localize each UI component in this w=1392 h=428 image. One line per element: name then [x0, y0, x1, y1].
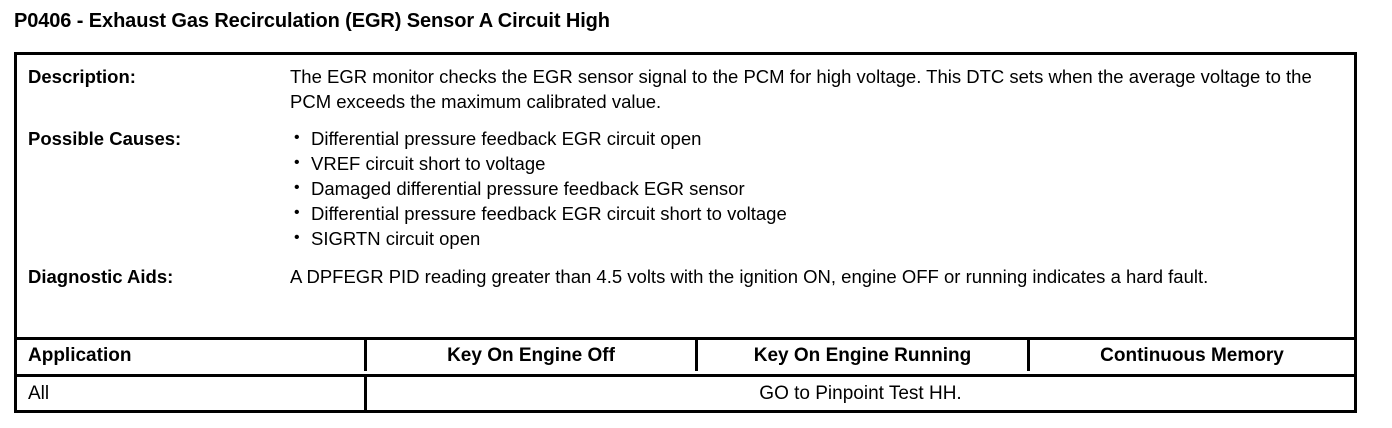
possible-causes-row: Possible Causes: Differential pressure f…	[17, 114, 1354, 251]
list-item: Differential pressure feedback EGR circu…	[290, 201, 1344, 226]
list-item: VREF circuit short to voltage	[290, 151, 1344, 176]
list-item: Differential pressure feedback EGR circu…	[290, 126, 1344, 151]
table-header-row: Application Key On Engine Off Key On Eng…	[17, 340, 1354, 377]
diagnostic-aids-row: Diagnostic Aids: A DPFEGR PID reading gr…	[17, 251, 1354, 289]
diagnostic-aids-content: A DPFEGR PID reading greater than 4.5 vo…	[290, 264, 1354, 289]
cell-test-result: GO to Pinpoint Test HH.	[364, 377, 1354, 410]
diagnostic-aids-label: Diagnostic Aids:	[17, 264, 290, 289]
table-row: All GO to Pinpoint Test HH.	[17, 377, 1354, 410]
cell-application: All	[17, 377, 364, 410]
dtc-document-page: P0406 - Exhaust Gas Recirculation (EGR) …	[0, 0, 1392, 428]
column-header-continuous-memory: Continuous Memory	[1027, 340, 1354, 371]
possible-causes-label: Possible Causes:	[17, 126, 290, 151]
page-title: P0406 - Exhaust Gas Recirculation (EGR) …	[14, 8, 610, 34]
diagnostic-aids-text: A DPFEGR PID reading greater than 4.5 vo…	[290, 264, 1344, 289]
description-row: Description: The EGR monitor checks the …	[17, 55, 1354, 114]
possible-causes-content: Differential pressure feedback EGR circu…	[290, 126, 1354, 251]
description-text: The EGR monitor checks the EGR sensor si…	[290, 64, 1344, 114]
column-header-key-on-engine-off: Key On Engine Off	[364, 340, 695, 371]
column-header-application: Application	[17, 340, 364, 371]
description-content: The EGR monitor checks the EGR sensor si…	[290, 64, 1354, 114]
column-header-key-on-engine-running: Key On Engine Running	[695, 340, 1027, 371]
list-item: Damaged differential pressure feedback E…	[290, 176, 1344, 201]
list-item: SIGRTN circuit open	[290, 226, 1344, 251]
application-table: Application Key On Engine Off Key On Eng…	[17, 337, 1354, 410]
dtc-detail-table: Description: The EGR monitor checks the …	[14, 52, 1357, 413]
possible-causes-list: Differential pressure feedback EGR circu…	[290, 126, 1344, 251]
info-section: Description: The EGR monitor checks the …	[17, 55, 1354, 289]
description-label: Description:	[17, 64, 290, 89]
